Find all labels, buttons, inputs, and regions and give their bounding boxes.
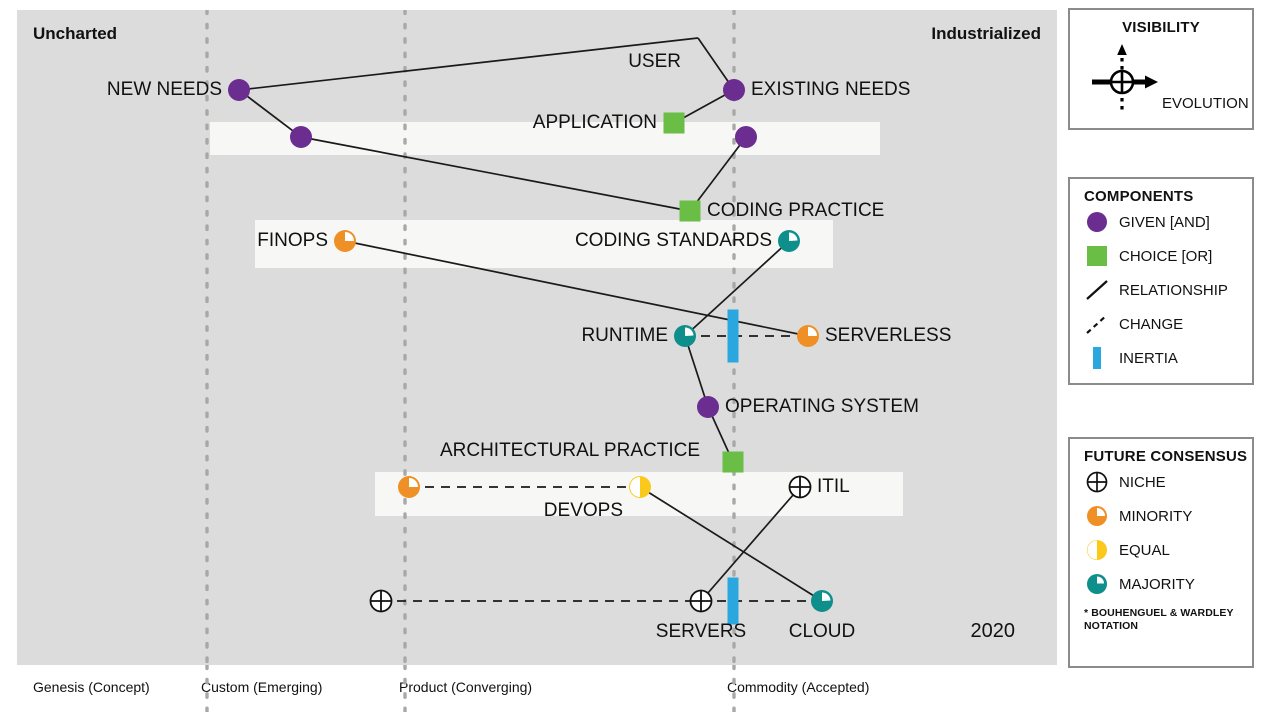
node-label-user: USER	[628, 51, 681, 73]
legend-components: COMPONENTS GIVEN [AND]CHOICE [OR]RELATIO…	[1068, 177, 1254, 385]
majority-marker	[811, 590, 833, 612]
node-label-cloud: CLOUD	[789, 621, 856, 643]
inertia-bar	[728, 578, 739, 625]
relationship-line	[701, 487, 800, 601]
legend-item-label: EQUAL	[1119, 542, 1170, 559]
legend-visibility: VISIBILITY EVOLUTION	[1068, 8, 1254, 130]
majority-marker	[778, 230, 800, 252]
given-marker	[697, 396, 719, 418]
node-label-coding-standards: CODING STANDARDS	[575, 230, 772, 252]
dashed-line-icon	[1086, 313, 1108, 335]
choice-marker	[680, 201, 701, 222]
legend-item-label: MAJORITY	[1119, 576, 1195, 593]
minority-icon	[1086, 505, 1108, 527]
legend-item-label: RELATIONSHIP	[1119, 282, 1228, 299]
minority-marker	[797, 325, 819, 347]
minority-marker	[334, 230, 356, 252]
legend-footnote: * BOUHENGUEL & WARDLEY NOTATION	[1084, 607, 1252, 633]
node-label-architectural-practice: ARCHITECTURAL PRACTICE	[440, 440, 700, 462]
node-label-coding-practice: CODING PRACTICE	[707, 200, 884, 222]
year-label: 2020	[971, 620, 1016, 643]
niche-icon	[1086, 471, 1108, 493]
legend-item-niche: NICHE	[1086, 465, 1252, 499]
legend-item-label: NICHE	[1119, 474, 1166, 491]
majority-icon	[1086, 573, 1108, 595]
legend-item-dashed-line: CHANGE	[1086, 307, 1252, 341]
minority-marker	[398, 476, 420, 498]
node-label-application: APPLICATION	[533, 112, 657, 134]
legend-consensus-rows: NICHEMINORITYEQUALMAJORITY	[1070, 465, 1252, 601]
choice-marker	[723, 452, 744, 473]
relationship-line	[685, 336, 708, 407]
relationship-line	[345, 241, 808, 336]
legend-item-label: MINORITY	[1119, 508, 1192, 525]
legend-item-majority: MAJORITY	[1086, 567, 1252, 601]
node-label-serverless: SERVERLESS	[825, 325, 951, 347]
node-label-operating-system: OPERATING SYSTEM	[725, 396, 919, 418]
choice-square-icon	[1086, 245, 1108, 267]
legend-item-choice-square: CHOICE [OR]	[1086, 239, 1252, 273]
legend-item-solid-line: RELATIONSHIP	[1086, 273, 1252, 307]
axis-gridline-dots	[17, 665, 1057, 712]
map-canvas: Uncharted Industrialized NEW NEEDSUSEREX…	[17, 10, 1057, 665]
legend-item-label: CHANGE	[1119, 316, 1183, 333]
node-label-finops: FINOPS	[257, 230, 328, 252]
evolution-axis-label: EVOLUTION	[1162, 95, 1249, 112]
relationship-line	[301, 137, 690, 211]
legend-consensus-title: FUTURE CONSENSUS	[1084, 448, 1252, 465]
relationship-line	[239, 90, 301, 137]
given-marker	[723, 79, 745, 101]
node-label-itil: ITIL	[817, 476, 850, 498]
majority-marker	[674, 325, 696, 347]
equal-marker	[629, 476, 651, 498]
niche-marker	[691, 591, 712, 612]
choice-marker	[664, 113, 685, 134]
inertia-bar	[728, 310, 739, 363]
node-label-new-needs: NEW NEEDS	[107, 79, 222, 101]
node-label-existing-needs: EXISTING NEEDS	[751, 79, 910, 101]
legend-visibility-title: VISIBILITY	[1070, 19, 1252, 36]
given-marker	[290, 126, 312, 148]
niche-marker	[790, 477, 811, 498]
legend-components-title: COMPONENTS	[1084, 188, 1252, 205]
visibility-evolution-axes-icon: EVOLUTION	[1070, 36, 1252, 120]
legend-item-inertia-bar: INERTIA	[1086, 341, 1252, 375]
legend-item-label: GIVEN [AND]	[1119, 214, 1210, 231]
node-label-devops: DEVOPS	[544, 500, 623, 522]
given-marker	[228, 79, 250, 101]
legend-item-label: INERTIA	[1119, 350, 1178, 367]
inertia-bar-icon	[1086, 347, 1108, 369]
solid-line-icon	[1086, 279, 1108, 301]
legend-item-label: CHOICE [OR]	[1119, 248, 1212, 265]
legend-item-minority: MINORITY	[1086, 499, 1252, 533]
legend-item-equal: EQUAL	[1086, 533, 1252, 567]
niche-marker	[371, 591, 392, 612]
given-marker	[735, 126, 757, 148]
node-label-runtime: RUNTIME	[581, 325, 668, 347]
legend-future-consensus: FUTURE CONSENSUS NICHEMINORITYEQUALMAJOR…	[1068, 437, 1254, 668]
equal-icon	[1086, 539, 1108, 561]
legend-components-rows: GIVEN [AND]CHOICE [OR]RELATIONSHIPCHANGE…	[1070, 205, 1252, 375]
legend-item-given-circle: GIVEN [AND]	[1086, 205, 1252, 239]
node-label-servers: SERVERS	[656, 621, 746, 643]
given-circle-icon	[1086, 211, 1108, 233]
evolution-axis: Genesis (Concept)Custom (Emerging)Produc…	[17, 665, 1057, 712]
wardley-map-page: Uncharted Industrialized NEW NEEDSUSEREX…	[0, 0, 1280, 712]
